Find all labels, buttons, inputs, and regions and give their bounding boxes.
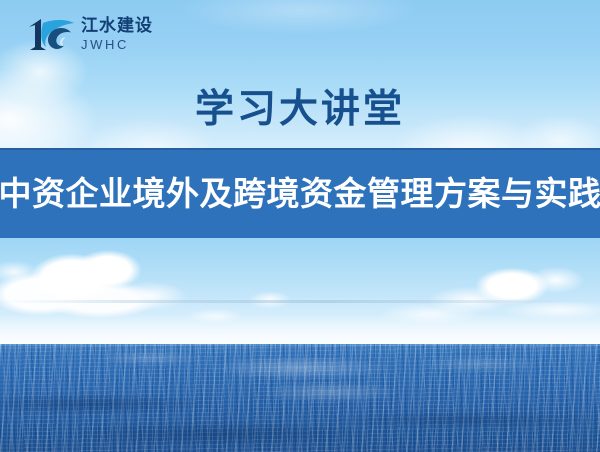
company-logo[interactable]: 江水建设 JWHC [26,15,153,53]
subject-banner-text: 中资企业境外及跨境资金管理方案与实践 [0,177,600,210]
logo-company-name-cn: 江水建设 [81,18,153,35]
jwhc-wave-monogram-icon [26,15,76,53]
logo-company-name-en: JWHC [81,38,153,51]
cumulus-clouds [0,238,600,344]
logo-wordmark: 江水建设 JWHC [81,18,153,51]
banner-top-rule [0,148,600,150]
subject-banner: 中资企业境外及跨境资金管理方案与实践 [0,148,600,238]
ocean-background [0,344,600,452]
presentation-title-slide: 江水建设 JWHC 学习大讲堂 中资企业境外及跨境资金管理方案与实践 [0,0,600,452]
ocean-shadow-bands [0,344,600,452]
sky-lower-background [0,238,600,344]
horizon-haze-streak [0,300,600,303]
page-title: 学习大讲堂 [0,78,600,134]
